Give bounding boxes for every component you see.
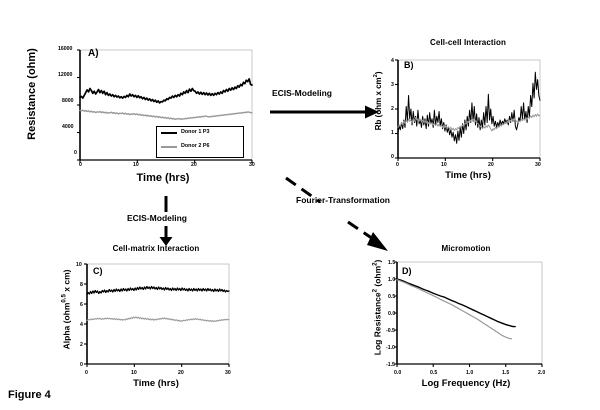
legend-swatch-donor2: [161, 146, 177, 148]
panel-c-cell-matrix: Cell-matrix Interaction Alpha (ohm0.5 x …: [56, 244, 246, 392]
panel-b-letter: B): [404, 60, 414, 70]
panel-c-xtick-30: 30: [225, 370, 231, 376]
panel-d-letter: D): [402, 266, 412, 276]
panel-b-xlabel: Time (hrs): [388, 170, 548, 181]
panel-d-ytick-0p0: 0.0: [388, 311, 395, 317]
panel-c-ytick-6: 6: [80, 302, 83, 308]
panel-c-xtick-20: 20: [178, 370, 184, 376]
panel-a-xtick-0: 0: [79, 162, 82, 168]
panel-b-plot: [368, 38, 558, 178]
panel-d-xtick-00: 0.0: [394, 370, 401, 376]
panel-b-xtick-0: 0: [396, 162, 399, 168]
panel-b-xtick-20: 20: [488, 162, 494, 168]
panel-d-ytick-m1p0: -1.0: [386, 345, 395, 351]
panel-c-xtick-0: 0: [85, 370, 88, 376]
arrow-label-ecis-modeling-down: ECIS-Modeling: [127, 213, 187, 223]
panel-a-xtick-20: 20: [191, 162, 197, 168]
panel-a-ytick-4000: 4000: [62, 124, 74, 130]
panel-c-ytick-8: 8: [80, 282, 83, 288]
panel-b-ylabel: Rb (ohm x cm2): [373, 46, 383, 156]
panel-a-ylabel: Resistance (ohm): [26, 24, 38, 164]
panel-b-xtick-10: 10: [441, 162, 447, 168]
panel-a-ytick-16000: 16000: [58, 46, 72, 52]
arrow-fourier-transformation: [348, 222, 392, 254]
panel-b-ytick-2: 2: [391, 106, 394, 112]
legend-label-donor2: Donor 2 P6: [181, 143, 209, 149]
panel-b-xtick-30: 30: [535, 162, 541, 168]
legend-swatch-donor1: [161, 132, 177, 134]
panel-d-ytick-1p0: 1.0: [388, 277, 395, 283]
panel-d-xtick-20: 2.0: [538, 370, 545, 376]
panel-a-ytick-12000: 12000: [58, 72, 72, 78]
panel-a-legend: Donor 1 P3 Donor 2 P6: [156, 126, 244, 158]
panel-c-ytick-2: 2: [80, 342, 83, 348]
panel-c-ytick-10: 10: [76, 262, 82, 268]
panel-d-micromotion: Micromotion Log Resistance2 (ohm2) 1.5 1…: [366, 244, 562, 392]
figure-4-root: Resistance (ohm) 16000 12000 8000 4000 0…: [0, 0, 600, 410]
panel-c-xlabel: Time (hrs): [76, 378, 236, 389]
panel-a-ytick-0: 0: [74, 150, 77, 156]
panel-a-letter: A): [88, 48, 99, 59]
panel-b-cell-cell: Cell-cell Interaction Rb (ohm x cm2) 4 3…: [368, 38, 558, 188]
panel-d-plot: [366, 244, 562, 384]
panel-d-ylabel: Log Resistance2 (ohm2): [372, 236, 383, 378]
panel-a-xtick-10: 10: [133, 162, 139, 168]
panel-c-xtick-10: 10: [131, 370, 137, 376]
arrow-label-ecis-modeling-right: ECIS-Modeling: [272, 88, 332, 98]
panel-b-ytick-0: 0: [391, 154, 394, 160]
panel-c-ytick-4: 4: [80, 322, 83, 328]
panel-b-title: Cell-cell Interaction: [388, 38, 548, 47]
panel-c-ytick-0: 0: [80, 362, 83, 368]
panel-d-xtick-10: 1.0: [466, 370, 473, 376]
panel-c-plot: [56, 244, 246, 384]
panel-a-xtick-30: 30: [249, 162, 255, 168]
panel-a-xlabel: Time (hrs): [68, 172, 258, 184]
arrow-ecis-modeling-down: [159, 226, 173, 246]
panel-d-ytick-m1p5: -1.5: [386, 362, 395, 368]
panel-d-title: Micromotion: [386, 244, 546, 253]
panel-c-ylabel: Alpha (ohm0.5 x cm): [61, 249, 72, 369]
panel-d-xlabel: Log Frequency (Hz): [380, 378, 552, 389]
panel-d-xtick-05: 0.5: [430, 370, 437, 376]
panel-a-ytick-8000: 8000: [62, 98, 74, 104]
panel-b-ytick-4: 4: [391, 58, 394, 64]
panel-b-ytick-1: 1: [391, 130, 394, 136]
panel-c-letter: C): [93, 266, 103, 276]
panel-c-title: Cell-matrix Interaction: [66, 244, 246, 253]
panel-d-ytick-m0p5: -0.5: [386, 328, 395, 334]
panel-d-xtick-15: 1.5: [502, 370, 509, 376]
arrow-ecis-modeling-right: [270, 104, 380, 120]
panel-d-ytick-0p5: 0.5: [388, 294, 395, 300]
arrow-ecis-modeling-down-stem-top: [159, 196, 173, 212]
arrow-label-fourier-transformation: Fourier-Transformation: [287, 196, 399, 206]
panel-b-ytick-3: 3: [391, 82, 394, 88]
figure-caption: Figure 4: [8, 389, 51, 401]
legend-label-donor1: Donor 1 P3: [181, 129, 209, 135]
panel-d-ytick-1p5: 1.5: [388, 260, 395, 266]
panel-a-resistance: Resistance (ohm) 16000 12000 8000 4000 0…: [28, 44, 278, 192]
